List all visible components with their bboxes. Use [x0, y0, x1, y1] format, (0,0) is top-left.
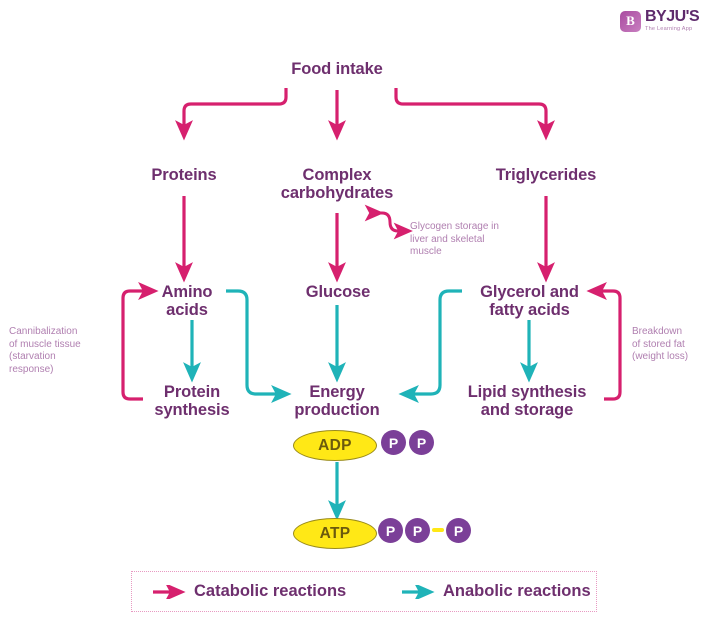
phosphate-label: P	[417, 435, 426, 451]
node-glucose: Glucose	[288, 283, 388, 301]
node-protein-synthesis: Protein synthesis	[136, 383, 248, 419]
node-glycerol-fatty-acids: Glycerol and fatty acids	[462, 283, 597, 319]
node-amino-acids: Amino acids	[148, 283, 226, 319]
node-lipid-synthesis-line1: Lipid synthesis	[468, 383, 587, 401]
legend-item-catabolic: Catabolic reactions	[152, 582, 346, 601]
annotation-glycogen-line3: muscle	[410, 246, 442, 257]
adp-bubble: ADP	[293, 430, 377, 461]
node-food-intake-text: Food intake	[291, 60, 383, 78]
node-protein-synthesis-line1: Protein	[164, 383, 220, 401]
legend-anabolic-label: Anabolic reactions	[443, 582, 591, 601]
annotation-cannibalization-line3: (starvation	[9, 351, 56, 362]
phosphate-label: P	[454, 523, 463, 539]
adp-label: ADP	[318, 437, 352, 455]
anabolic-arrow-icon	[401, 585, 435, 599]
annotation-glycogen-storage: Glycogen storage in liver and skeletal m…	[410, 221, 530, 259]
byjus-logo-mark-letter: B	[626, 13, 635, 29]
legend-item-anabolic: Anabolic reactions	[401, 582, 591, 601]
phosphate-label: P	[389, 435, 398, 451]
metabolism-flow-diagram: Food intake Proteins Complex carbohydrat…	[0, 0, 720, 644]
node-amino-acids-line1: Amino	[162, 283, 213, 301]
node-energy-production-line1: Energy	[309, 383, 364, 401]
node-triglycerides: Triglycerides	[476, 166, 616, 184]
node-glucose-text: Glucose	[306, 283, 370, 301]
annotation-glycogen-line2: liver and skeletal	[410, 234, 484, 245]
catabolic-arrows	[123, 88, 620, 399]
phosphate-icon: P	[409, 430, 434, 455]
byjus-logo[interactable]: B BYJU'S The Learning App	[620, 7, 712, 35]
atp-label: ATP	[320, 525, 351, 543]
byjus-logo-name: BYJU'S	[645, 9, 699, 25]
annotation-cannibalization-line1: Cannibalization	[9, 326, 77, 337]
annotation-cannibalization-line2: of muscle tissue	[9, 339, 81, 350]
node-triglycerides-text: Triglycerides	[496, 166, 597, 184]
legend-catabolic-label: Catabolic reactions	[194, 582, 346, 601]
phosphate-icon: P	[446, 518, 471, 543]
node-energy-production: Energy production	[280, 383, 394, 419]
node-glycerol-line1: Glycerol and	[480, 283, 579, 301]
annotation-breakdown-line1: Breakdown	[632, 326, 682, 337]
atp-bubble: ATP	[293, 518, 377, 549]
node-glycerol-line2: fatty acids	[489, 301, 570, 319]
node-complex-carbohydrates-line1: Complex	[303, 166, 372, 184]
connector-layer	[0, 0, 720, 644]
node-complex-carbohydrates: Complex carbohydrates	[272, 166, 402, 202]
catabolic-arrow-icon	[152, 585, 186, 599]
phosphate-label: P	[386, 523, 395, 539]
annotation-cannibalization-line4: response)	[9, 364, 53, 375]
node-proteins: Proteins	[124, 166, 244, 184]
node-lipid-synthesis: Lipid synthesis and storage	[449, 383, 605, 419]
phosphate-icon: P	[378, 518, 403, 543]
annotation-breakdown-line3: (weight loss)	[632, 351, 688, 362]
phosphate-icon: P	[381, 430, 406, 455]
phosphate-bond	[432, 528, 444, 532]
annotation-glycogen-line1: Glycogen storage in	[410, 221, 499, 232]
annotation-breakdown-line2: of stored fat	[632, 339, 685, 350]
node-food-intake: Food intake	[262, 60, 412, 78]
annotation-fat-breakdown: Breakdown of stored fat (weight loss)	[632, 326, 718, 364]
byjus-logo-mark-icon: B	[620, 11, 641, 32]
annotation-cannibalization: Cannibalization of muscle tissue (starva…	[9, 326, 113, 376]
byjus-logo-tagline: The Learning App	[645, 27, 699, 33]
node-proteins-text: Proteins	[151, 166, 216, 184]
phosphate-label: P	[413, 523, 422, 539]
node-complex-carbohydrates-line2: carbohydrates	[281, 184, 393, 202]
node-protein-synthesis-line2: synthesis	[154, 401, 229, 419]
node-energy-production-line2: production	[294, 401, 379, 419]
phosphate-icon: P	[405, 518, 430, 543]
node-lipid-synthesis-line2: and storage	[481, 401, 573, 419]
byjus-logo-text: BYJU'S The Learning App	[645, 9, 699, 33]
node-amino-acids-line2: acids	[166, 301, 208, 319]
